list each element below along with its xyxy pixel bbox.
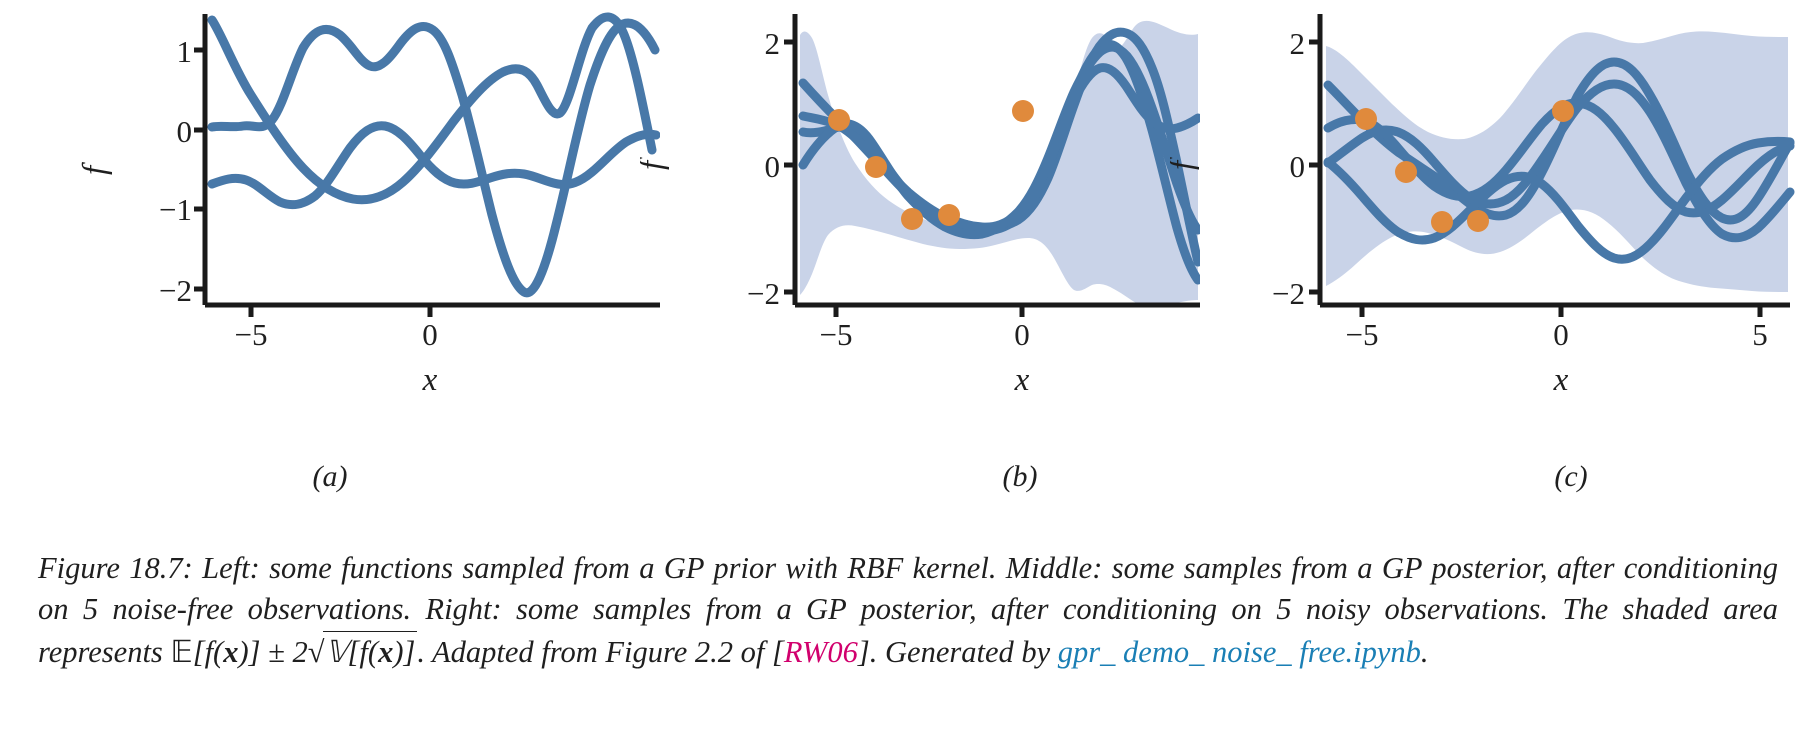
panel-a-subcaption: (a) <box>0 460 660 494</box>
panel-c-ytick-2: 2 <box>1290 26 1306 61</box>
panel-a-curve-2 <box>212 23 655 293</box>
panel-b-xtick-neg5: −5 <box>820 317 853 352</box>
caption-text-part-4: . <box>1421 635 1429 669</box>
caption-text-part-3: ]. Generated by <box>858 635 1058 669</box>
panel-c-ylabel: f <box>1170 157 1200 170</box>
caption-text-part-2: . Adapted from Figure 2.2 of [ <box>417 635 784 669</box>
panel-c-plot: f 2 0 −2 −5 0 5 x <box>1170 0 1812 540</box>
panel-b-ytick-neg2: −2 <box>747 276 780 311</box>
panel-c-ytick-0: 0 <box>1290 149 1306 184</box>
panel-a-ytick-neg1: −1 <box>159 192 192 227</box>
caption-math-sqrt: √𝕍[f(x)] <box>308 635 418 669</box>
panel-a-xlabel: x <box>422 362 438 398</box>
caption-notebook-link[interactable]: gpr_ demo_ noise_ free.ipynb <box>1058 635 1421 669</box>
panel-b-ylabel: f <box>640 157 670 170</box>
panel-c-xtick-0: 0 <box>1553 317 1569 352</box>
panel-c-xtick-neg5: −5 <box>1346 317 1379 352</box>
observation-point <box>1395 161 1417 183</box>
panel-b: f 2 0 −2 −5 0 x <box>640 0 1200 540</box>
figure-caption: Figure 18.7: Left: some functions sample… <box>38 548 1778 673</box>
observation-point <box>938 204 960 226</box>
panel-a-ytick-0: 0 <box>177 114 193 149</box>
panel-b-ytick-2: 2 <box>765 26 781 61</box>
panel-a-sample-curves <box>212 17 656 293</box>
panel-b-confidence-band <box>800 21 1198 307</box>
panel-a-ytick-1: 1 <box>177 34 193 69</box>
panel-c-ytick-neg2: −2 <box>1272 276 1305 311</box>
panel-b-xtick-0: 0 <box>1014 317 1030 352</box>
panel-a-xtick-0: 0 <box>422 317 438 352</box>
panel-b-plot: f 2 0 −2 −5 0 x <box>640 0 1200 540</box>
observation-point <box>1552 100 1574 122</box>
caption-math-part-a: [f(x)] ± 2 <box>193 635 308 669</box>
panel-a-plot: f 1 0 −1 −2 −5 0 x <box>0 0 660 540</box>
observation-point <box>1012 100 1034 122</box>
observation-point <box>1431 211 1453 233</box>
panel-c-subcaption: (c) <box>1250 460 1812 494</box>
panel-b-ytick-0: 0 <box>765 149 781 184</box>
observation-point <box>901 208 923 230</box>
observation-point <box>1355 108 1377 130</box>
observation-point <box>865 156 887 178</box>
panel-c-xtick-5: 5 <box>1752 317 1768 352</box>
caption-citation-rw06[interactable]: RW06 <box>784 635 858 669</box>
caption-math-expectation: 𝔼 <box>170 635 192 669</box>
figure-container: f 1 0 −1 −2 −5 0 x <box>0 0 1812 752</box>
panel-a: f 1 0 −1 −2 −5 0 x <box>0 0 660 540</box>
panel-a-ytick-neg2: −2 <box>159 273 192 308</box>
panel-c: f 2 0 −2 −5 0 5 x <box>1170 0 1812 540</box>
panel-b-xlabel: x <box>1014 362 1030 398</box>
observation-point <box>1467 210 1489 232</box>
panel-a-ylabel: f <box>77 162 113 175</box>
panel-a-xtick-neg5: −5 <box>235 317 268 352</box>
panel-c-xlabel: x <box>1553 362 1569 398</box>
observation-point <box>828 109 850 131</box>
figure-panels: f 1 0 −1 −2 −5 0 x <box>0 0 1812 540</box>
